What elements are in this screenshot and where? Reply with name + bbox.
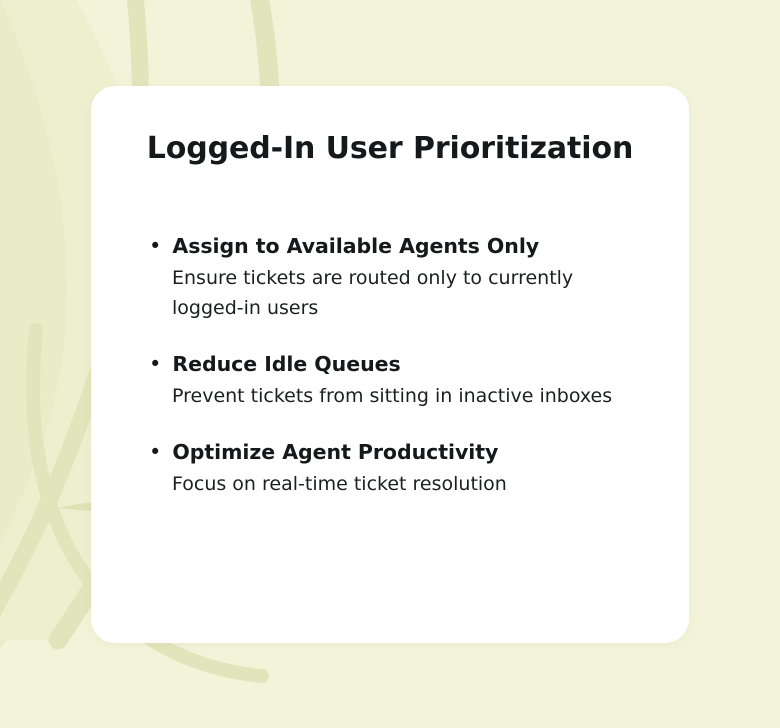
bullet-dot-icon: • (149, 439, 161, 465)
bullet-list: • Assign to Available Agents Only Ensure… (149, 233, 669, 499)
content-card: Logged-In User Prioritization • Assign t… (91, 86, 689, 643)
list-item: • Reduce Idle Queues Prevent tickets fro… (149, 351, 669, 411)
bullet-heading: Reduce Idle Queues (172, 351, 400, 377)
bullet-heading-row: • Reduce Idle Queues (149, 351, 669, 377)
bullet-dot-icon: • (149, 233, 161, 259)
bullet-description: Focus on real-time ticket resolution (172, 469, 642, 499)
list-item: • Optimize Agent Productivity Focus on r… (149, 439, 669, 499)
bullet-heading: Optimize Agent Productivity (172, 439, 498, 465)
list-item: • Assign to Available Agents Only Ensure… (149, 233, 669, 323)
bullet-description: Prevent tickets from sitting in inactive… (172, 381, 642, 411)
bullet-heading: Assign to Available Agents Only (172, 233, 539, 259)
page-title: Logged-In User Prioritization (91, 131, 689, 167)
bullet-dot-icon: • (149, 351, 161, 377)
slide-canvas: Logged-In User Prioritization • Assign t… (0, 0, 780, 728)
bullet-heading-row: • Assign to Available Agents Only (149, 233, 669, 259)
bullet-heading-row: • Optimize Agent Productivity (149, 439, 669, 465)
bullet-description: Ensure tickets are routed only to curren… (172, 263, 642, 323)
